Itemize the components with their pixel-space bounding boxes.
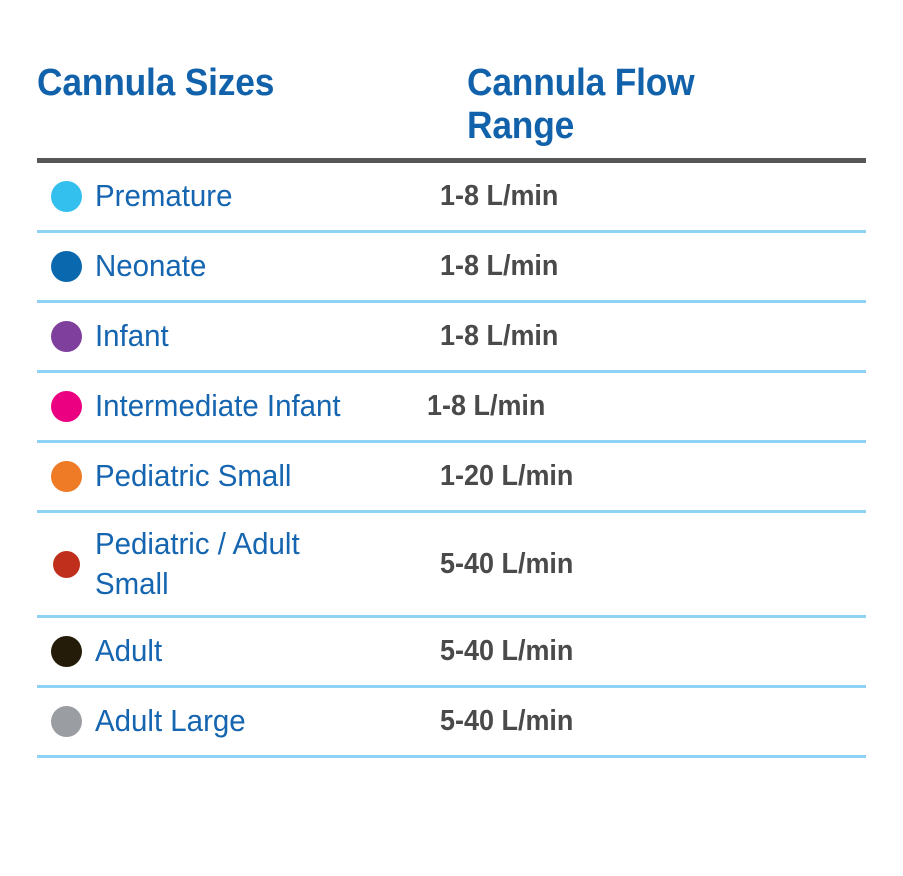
cannula-flow-range-value: 1-8 L/min bbox=[440, 319, 836, 354]
cannula-size-label: Neonate bbox=[95, 246, 423, 286]
cannula-flow-range-value: 5-40 L/min bbox=[440, 547, 836, 582]
cannula-flow-range-value: 5-40 L/min bbox=[440, 704, 836, 739]
color-swatch-cell bbox=[37, 391, 95, 422]
color-swatch-cell bbox=[37, 251, 95, 282]
cannula-flow-range-value: 5-40 L/min bbox=[440, 634, 836, 669]
table-header-row: Cannula Sizes Cannula Flow Range bbox=[0, 0, 903, 152]
cannula-size-label: Infant bbox=[95, 316, 423, 356]
cannula-flow-range-value: 1-8 L/min bbox=[440, 249, 836, 284]
color-dot-intermediate-infant bbox=[51, 391, 82, 422]
color-swatch-cell bbox=[37, 461, 95, 492]
color-swatch-cell bbox=[37, 321, 95, 352]
table-row: Pediatric Small1-20 L/min bbox=[37, 443, 866, 510]
row-divider bbox=[37, 755, 866, 758]
color-swatch-cell bbox=[37, 636, 95, 667]
table-body: Premature1-8 L/minNeonate1-8 L/minInfant… bbox=[0, 163, 903, 758]
column-header-cannula-flow-range: Cannula Flow Range bbox=[467, 62, 774, 148]
cannula-size-label: Pediatric Small bbox=[95, 456, 423, 496]
color-dot-premature bbox=[51, 181, 82, 212]
table-row: Pediatric / Adult Small5-40 L/min bbox=[37, 513, 866, 615]
color-swatch-cell bbox=[37, 706, 95, 737]
table-row: Neonate1-8 L/min bbox=[37, 233, 866, 300]
cannula-flow-range-value: 1-20 L/min bbox=[440, 459, 836, 494]
cannula-size-label: Adult Large bbox=[95, 701, 423, 741]
cannula-size-label: Adult bbox=[95, 631, 423, 671]
column-header-cannula-sizes: Cannula Sizes bbox=[37, 62, 437, 105]
table-row: Premature1-8 L/min bbox=[37, 163, 866, 230]
table-row: Adult5-40 L/min bbox=[37, 618, 866, 685]
color-dot-pediatric-small bbox=[51, 461, 82, 492]
color-dot-neonate bbox=[51, 251, 82, 282]
color-dot-pediatric-adult-small bbox=[53, 551, 80, 578]
color-swatch-cell bbox=[37, 551, 95, 578]
cannula-sizes-table: Cannula Sizes Cannula Flow Range Prematu… bbox=[0, 0, 903, 876]
table-row: Infant1-8 L/min bbox=[37, 303, 866, 370]
color-dot-adult bbox=[51, 636, 82, 667]
color-dot-infant bbox=[51, 321, 82, 352]
cannula-flow-range-value: 1-8 L/min bbox=[440, 179, 836, 214]
cannula-size-label: Intermediate Infant bbox=[95, 386, 410, 426]
cannula-flow-range-value: 1-8 L/min bbox=[427, 389, 835, 424]
color-dot-adult-large bbox=[51, 706, 82, 737]
cannula-size-label: Premature bbox=[95, 176, 423, 216]
color-swatch-cell bbox=[37, 181, 95, 212]
table-row: Adult Large5-40 L/min bbox=[37, 688, 866, 755]
table-row: Intermediate Infant1-8 L/min bbox=[37, 373, 866, 440]
cannula-size-label: Pediatric / Adult Small bbox=[95, 524, 423, 605]
